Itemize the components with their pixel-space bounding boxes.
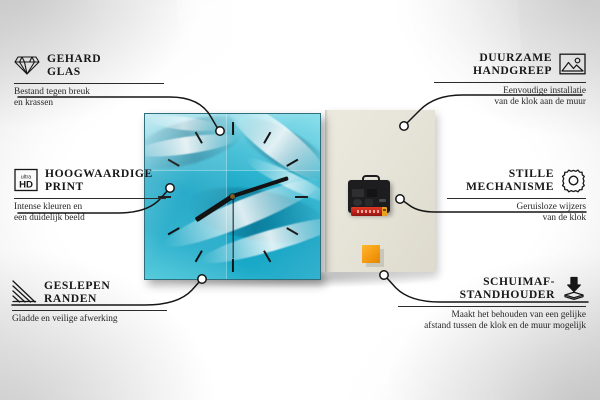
connector-dot-duurzame-handgreep [400,122,408,130]
feature-desc-line1: Eenvoudige installatie [434,86,586,97]
bevelled-edge-icon [12,280,37,304]
feature-title-line2: PRINT [45,180,153,193]
press-down-icon [562,276,586,300]
feature-hoogwaardige-print[interactable]: ultra HD HOOGWAARDIGE PRINT Intense kleu… [14,167,166,224]
connector-dot-schuimafstandhouder [380,271,388,279]
feature-title-line1: DUURZAME [473,51,552,64]
diamond-icon [14,54,40,76]
connector-dot-stille-mechanisme [396,195,404,203]
feature-desc-line1: Bestand tegen breuk [14,87,164,98]
feature-desc: Maakt het behouden van een gelijke afsta… [398,310,586,332]
feature-header: DUURZAME HANDGREEP [434,51,586,78]
connector-dot-geslepen-randen [198,275,206,283]
feature-title-line1: SCHUIMAF- [460,275,555,288]
feature-desc-line1: Maakt het behouden van een gelijke [398,310,586,321]
feature-duurzame-handgreep[interactable]: DUURZAME HANDGREEP Eenvoudige installati… [434,51,586,108]
feature-desc-line2: van de klok [447,213,586,224]
feature-divider [447,198,586,199]
feature-desc: Eenvoudige installatie van de klok aan d… [434,86,586,108]
feature-title-line2: STANDHOUDER [460,288,555,301]
gear-icon [561,168,586,193]
feature-gehard-glas[interactable]: GEHARD GLAS Bestand tegen breuk en krass… [14,52,164,109]
feature-title-line1: HOOGWAARDIGE [45,167,153,180]
feature-header: SCHUIMAF- STANDHOUDER [398,275,586,302]
feature-title-line1: GEHARD [47,52,101,65]
feature-divider [398,306,586,307]
feature-desc-line1: Gladde en veilige afwerking [12,314,157,325]
ultra-hd-icon: ultra HD [14,168,38,192]
feature-title-line2: HANDGREEP [473,64,552,77]
feature-header: GEHARD GLAS [14,52,164,79]
feature-desc: Intense kleuren en een duidelijk beeld [14,202,166,224]
feature-title-line2: GLAS [47,65,101,78]
svg-text:HD: HD [19,180,33,191]
feature-schuimafstandhouder[interactable]: SCHUIMAF- STANDHOUDER Maakt het behouden… [398,275,586,332]
feature-desc: Bestand tegen breuk en krassen [14,87,164,109]
feature-title-line2: MECHANISME [466,180,554,193]
infographic-canvas: GEHARD GLAS Bestand tegen breuk en krass… [0,0,600,400]
feature-desc-line2: van de klok aan de muur [434,97,586,108]
feature-title-line1: STILLE [466,167,554,180]
feature-desc-line2: een duidelijk beeld [14,213,166,224]
feature-title-line2: RANDEN [44,292,110,305]
picture-frame-icon [559,53,586,75]
feature-desc-line2: en krassen [14,98,164,109]
feature-stille-mechanisme[interactable]: STILLE MECHANISME Geruisloze wijzers van… [447,167,586,224]
feature-geslepen-randen[interactable]: GESLEPEN RANDEN Gladde en veilige afwerk… [12,279,157,325]
feature-desc: Geruisloze wijzers van de klok [447,202,586,224]
feature-header: ultra HD HOOGWAARDIGE PRINT [14,167,166,194]
feature-desc-line2: afstand tussen de klok en de muur mogeli… [398,321,586,332]
feature-divider [434,82,586,83]
connector-dot-hoogwaardige-print [166,184,174,192]
connector-dot-gehard-glas [216,127,224,135]
feature-divider [14,83,164,84]
feature-header: STILLE MECHANISME [447,167,586,194]
feature-desc-line1: Intense kleuren en [14,202,166,213]
feature-desc-line1: Geruisloze wijzers [447,202,586,213]
feature-title-line1: GESLEPEN [44,279,110,292]
feature-divider [14,198,166,199]
feature-header: GESLEPEN RANDEN [12,279,157,306]
feature-divider [12,310,167,311]
feature-desc: Gladde en veilige afwerking [12,314,157,325]
